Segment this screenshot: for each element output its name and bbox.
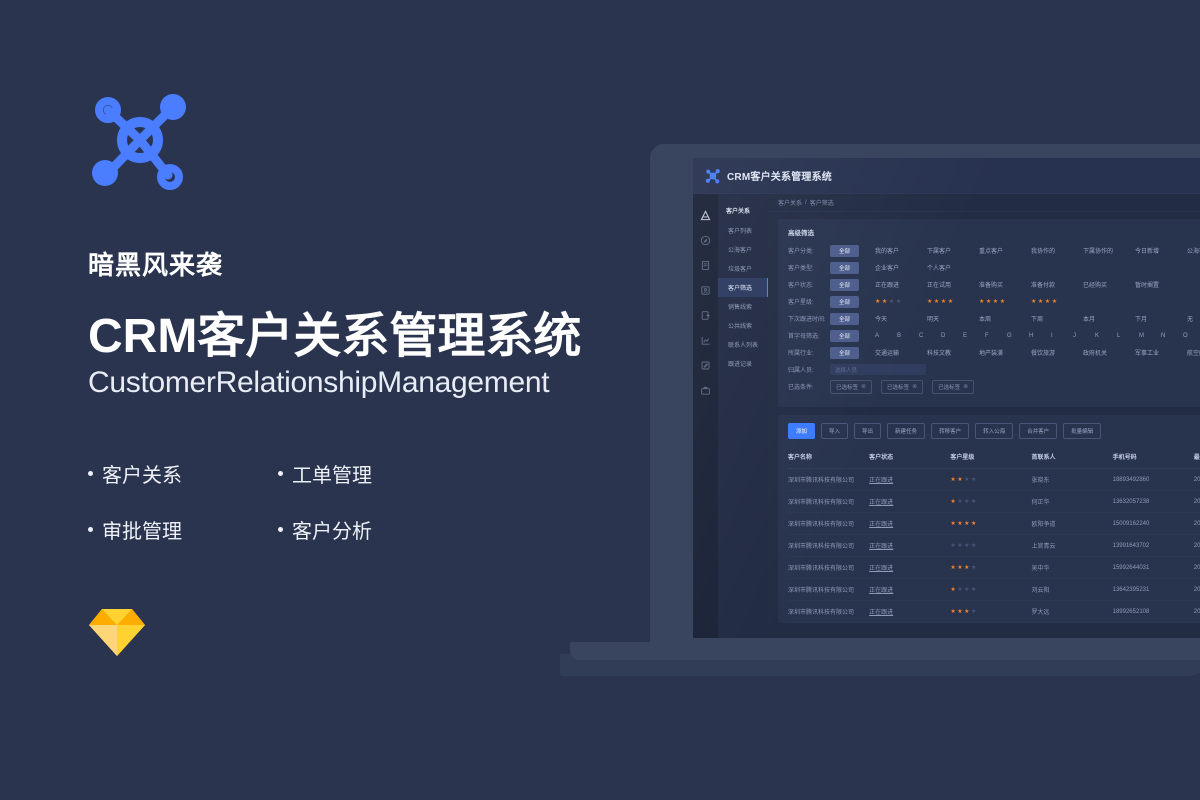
cell-contact-name: 吴中华: [1031, 557, 1112, 579]
filter-option[interactable]: 下属协作的: [1083, 246, 1135, 255]
cell-customer-status: 正在跟进: [869, 513, 950, 535]
filter-option[interactable]: 公海客户: [1187, 246, 1200, 255]
app-header: CRM客户关系管理系统 请输入客户名称: [693, 158, 1200, 194]
filter-option[interactable]: 正在跟进: [875, 280, 927, 289]
table-row[interactable]: 深圳市腾讯科技有限公司正在跟进★★★★上官青云139916437022019-0…: [788, 535, 1200, 557]
sidebar-item-sales-lead[interactable]: 销售线索: [718, 297, 768, 316]
feature-label: 审批管理: [102, 515, 182, 544]
star-icon: ★: [1045, 299, 1050, 305]
feature-list: 客户关系 工单管理 审批管理 客户分析: [88, 445, 468, 557]
filter-option[interactable]: 下属客户: [927, 246, 979, 255]
network-nodes-icon: [88, 85, 193, 195]
filter-options: 我的客户下属客户重点客户我协作的下属协作的今日新增公海客户垃圾客户: [875, 246, 1200, 255]
condition-chip[interactable]: 已选标签 ⊗: [932, 380, 974, 394]
filter-option[interactable]: B: [897, 333, 919, 339]
filter-row: 所属行业:全部交通运输科技文教地产装潢餐饮旅游政府机关军事工业航空航天医疗卫生: [788, 346, 1200, 359]
customer-card-icon[interactable]: [700, 283, 711, 294]
star-rating: ★★★★: [950, 609, 1002, 615]
cell-customer-stars: ★★★★: [950, 513, 1031, 535]
filter-all-chip[interactable]: 全部: [830, 313, 859, 325]
star-icon: ★: [1031, 299, 1036, 305]
cell-customer-name: 深圳市腾讯科技有限公司: [788, 557, 869, 579]
cell-phone: 15009162240: [1113, 513, 1194, 535]
cell-customer-status: 正在跟进: [869, 557, 950, 579]
star-icon: ★: [964, 521, 969, 527]
filter-option[interactable]: F: [985, 333, 1007, 339]
toolbar-button[interactable]: 合并客户: [1019, 423, 1057, 439]
sidebar-item-public-lead[interactable]: 公共线索: [718, 316, 768, 335]
filter-option[interactable]: K: [1095, 333, 1117, 339]
table-column-header: 客户状态: [869, 447, 950, 469]
cell-last-followup: 2019-06-25 12:30: [1194, 535, 1200, 557]
star-icon: ★: [964, 499, 969, 505]
filter-panel-title: 高级筛选: [788, 227, 1200, 237]
star-rating: ★★★★: [950, 543, 1002, 549]
cell-customer-status: 正在跟进: [869, 579, 950, 601]
star-rating-option[interactable]: ★★★★: [979, 299, 1031, 305]
star-icon: ★: [1000, 299, 1005, 305]
bullet-dot: [278, 527, 283, 532]
table-header-row: 客户名称客户状态客户星级首联系人手机号码最近跟进: [788, 447, 1200, 469]
star-icon: ★: [1052, 299, 1057, 305]
star-rating-option[interactable]: ★★★★: [1031, 299, 1083, 305]
filter-option[interactable]: G: [1007, 333, 1029, 339]
filter-option[interactable]: 重点客户: [979, 246, 1031, 255]
star-icon: ★: [950, 565, 955, 571]
filter-option[interactable]: 个人客户: [927, 263, 979, 272]
toolbar-button[interactable]: 导入: [821, 423, 848, 439]
toolbar: 添加导入导出新建任务转移客户转入公海合并客户批量编辑: [788, 423, 1200, 439]
sketch-diamond-icon: [88, 605, 146, 657]
cell-phone: 13632057238: [1113, 491, 1194, 513]
network-nodes-icon: [705, 168, 721, 184]
filter-option[interactable]: 下月: [1135, 314, 1187, 323]
star-icon: ★: [957, 477, 962, 483]
filter-row: 客户状态:全部正在跟进正在试用准备购买准备付款已经购买暂时搁置: [788, 278, 1200, 291]
filter-option[interactable]: 航空航天: [1187, 348, 1200, 357]
star-icon: ★: [971, 609, 976, 615]
filter-all-chip[interactable]: 全部: [830, 296, 859, 308]
filter-row-label: 下次跟进时间:: [788, 314, 830, 323]
cell-customer-stars: ★★★★: [950, 557, 1031, 579]
cell-customer-name: 深圳市腾讯科技有限公司: [788, 513, 869, 535]
sidebar-item-followup-record[interactable]: 跟进记录: [718, 354, 768, 373]
star-icon: ★: [934, 299, 939, 305]
star-rating: ★★★★: [950, 521, 1002, 527]
filter-option[interactable]: 地产装潢: [979, 348, 1031, 357]
filter-panel: 高级筛选 客户分类:全部我的客户下属客户重点客户我协作的下属协作的今日新增公海客…: [778, 219, 1200, 407]
close-circle-icon[interactable]: ⊗: [912, 383, 917, 390]
cell-last-followup: 2019-06-25 12:30: [1194, 601, 1200, 623]
cell-last-followup: 2019-06-25 12:30: [1194, 491, 1200, 513]
condition-chip-text: 已选标签: [836, 383, 858, 391]
star-icon: ★: [957, 499, 962, 505]
filter-option[interactable]: C: [919, 333, 941, 339]
star-icon: ★: [950, 477, 955, 483]
cell-contact-name: 罗大远: [1031, 601, 1112, 623]
toolbar-button[interactable]: 导出: [854, 423, 881, 439]
filter-all-chip[interactable]: 全部: [830, 279, 859, 291]
filter-option[interactable]: H: [1029, 333, 1051, 339]
owner-row: 归属人员: 选择人员: [788, 363, 1200, 376]
app-title: CRM客户关系管理系统: [727, 168, 832, 183]
star-icon: ★: [941, 299, 946, 305]
feature-item: 客户关系: [88, 445, 278, 501]
selected-conditions-row: 已选条件: 已选标签 ⊗ 已选标签 ⊗ 已选标签 ⊗: [788, 380, 1200, 393]
cell-contact-name: 何正华: [1031, 491, 1112, 513]
filter-option[interactable]: D: [941, 333, 963, 339]
filter-option[interactable]: 本周: [979, 314, 1031, 323]
filter-option[interactable]: 军事工业: [1135, 348, 1187, 357]
table-row[interactable]: 深圳市腾讯科技有限公司正在跟进★★★★何正华136320572382019-06…: [788, 491, 1200, 513]
star-icon: ★: [948, 299, 953, 305]
sidebar-item-public-customer[interactable]: 公海客户: [718, 240, 768, 259]
star-rating-option[interactable]: ★★★★: [875, 299, 927, 305]
bullet-dot: [88, 527, 93, 532]
cell-customer-name: 深圳市腾讯科技有限公司: [788, 491, 869, 513]
filter-option[interactable]: 我协作的: [1031, 246, 1083, 255]
filter-rows: 客户分类:全部我的客户下属客户重点客户我协作的下属协作的今日新增公海客户垃圾客户…: [788, 244, 1200, 359]
filter-option[interactable]: O: [1183, 333, 1200, 339]
filter-all-chip[interactable]: 全部: [830, 347, 859, 359]
cell-customer-status: 正在跟进: [869, 491, 950, 513]
cell-last-followup: 2019-06-25 12:30: [1194, 513, 1200, 535]
filter-row: 首字母筛选:全部ABCDEFGHIJKLMNOPQRSTU: [788, 329, 1200, 342]
filter-option[interactable]: I: [1051, 333, 1073, 339]
star-icon: ★: [964, 609, 969, 615]
sidebar-item-customer-filter[interactable]: 客户筛选: [718, 278, 768, 297]
filter-options: 交通运输科技文教地产装潢餐饮旅游政府机关军事工业航空航天医疗卫生: [875, 348, 1200, 357]
briefcase-icon[interactable]: [700, 383, 711, 394]
filter-all-chip[interactable]: 全部: [830, 245, 859, 257]
toolbar-button[interactable]: 转移客户: [931, 423, 969, 439]
app-body: 客户关系 客户列表 公海客户 垃圾客户 客户筛选 销售线索 公共线索 联系人列表…: [693, 194, 1200, 638]
star-icon: ★: [957, 565, 962, 571]
cell-customer-stars: ★★★★: [950, 601, 1031, 623]
feature-item: 审批管理: [88, 501, 278, 557]
selected-conditions-label: 已选条件:: [788, 382, 830, 391]
condition-chip-text: 已选标签: [938, 383, 960, 391]
cell-customer-name: 深圳市腾讯科技有限公司: [788, 601, 869, 623]
filter-options: 企业客户个人客户: [875, 263, 1200, 272]
filter-option[interactable]: 我的客户: [875, 246, 927, 255]
filter-option[interactable]: 科技文教: [927, 348, 979, 357]
laptop-base: [570, 642, 1200, 660]
chart-icon[interactable]: [700, 333, 711, 344]
cell-customer-status: 正在跟进: [869, 469, 950, 491]
filter-all-chip[interactable]: 全部: [830, 262, 859, 274]
close-circle-icon[interactable]: ⊗: [861, 383, 866, 390]
hero-kicker: 暗黑风来袭: [88, 245, 223, 282]
filter-options: 正在跟进正在试用准备购买准备付款已经购买暂时搁置: [875, 280, 1200, 289]
star-icon: ★: [950, 609, 955, 615]
star-icon: ★: [882, 299, 887, 305]
hero-subtitle: CustomerRelationshipManagement: [88, 366, 549, 400]
filter-options: ★★★★★★★★★★★★★★★★: [875, 299, 1200, 305]
table-row[interactable]: 深圳市腾讯科技有限公司正在跟进★★★★张晓东188934928602019-06…: [788, 469, 1200, 491]
star-icon: ★: [979, 299, 984, 305]
star-rating: ★★★★: [950, 499, 1002, 505]
star-icon: ★: [957, 521, 962, 527]
star-icon: ★: [964, 477, 969, 483]
table-column-header: 首联系人: [1031, 447, 1112, 469]
filter-option[interactable]: 准备购买: [979, 280, 1031, 289]
laptop-camera: [947, 152, 993, 156]
table-panel: 添加导入导出新建任务转移客户转入公海合并客户批量编辑 客户名称客户状态客户星级首…: [778, 415, 1200, 623]
filter-row: 客户分类:全部我的客户下属客户重点客户我协作的下属协作的今日新增公海客户垃圾客户: [788, 244, 1200, 257]
filter-option[interactable]: 无: [1187, 314, 1200, 323]
filter-all-chip[interactable]: 全部: [830, 330, 859, 342]
cell-last-followup: 2019-06-25 12:30: [1194, 579, 1200, 601]
table-row[interactable]: 深圳市腾讯科技有限公司正在跟进★★★★吴中华159926440312019-06…: [788, 557, 1200, 579]
cell-customer-name: 深圳市腾讯科技有限公司: [788, 469, 869, 491]
cell-customer-status: 正在跟进: [869, 535, 950, 557]
condition-chip-text: 已选标签: [887, 383, 909, 391]
filter-row: 客户星级:全部★★★★★★★★★★★★★★★★: [788, 295, 1200, 308]
cell-customer-name: 深圳市腾讯科技有限公司: [788, 535, 869, 557]
filter-row: 客户类型:全部企业客户个人客户: [788, 261, 1200, 274]
cell-phone: 13642395231: [1113, 579, 1194, 601]
sidebar-menu: 客户关系 客户列表 公海客户 垃圾客户 客户筛选 销售线索 公共线索 联系人列表…: [718, 194, 768, 638]
star-icon: ★: [964, 565, 969, 571]
customer-table: 客户名称客户状态客户星级首联系人手机号码最近跟进 深圳市腾讯科技有限公司正在跟进…: [788, 447, 1200, 623]
sidebar-group-title: 客户关系: [718, 202, 768, 221]
filter-option[interactable]: 今日新增: [1135, 246, 1187, 255]
cell-phone: 18992652108: [1113, 601, 1194, 623]
filter-option[interactable]: E: [963, 333, 985, 339]
condition-chip[interactable]: 已选标签 ⊗: [881, 380, 923, 394]
filter-row-label: 所属行业:: [788, 348, 830, 357]
filter-option[interactable]: 今天: [875, 314, 927, 323]
star-icon: ★: [875, 299, 880, 305]
filter-row: 下次跟进时间:全部今天明天本周下周本月下月无自定义时间: [788, 312, 1200, 325]
star-icon: ★: [971, 477, 976, 483]
toolbar-button[interactable]: 添加: [788, 423, 815, 439]
cell-phone: 18893492860: [1113, 469, 1194, 491]
cell-last-followup: 2019-06-25 12:30: [1194, 557, 1200, 579]
icon-rail: [693, 194, 718, 638]
feature-item: 客户分析: [278, 501, 468, 557]
filter-option[interactable]: 正在试用: [927, 280, 979, 289]
edit-icon[interactable]: [700, 358, 711, 369]
feature-label: 客户分析: [292, 515, 372, 544]
feature-label: 工单管理: [292, 459, 372, 488]
owner-placeholder: 选择人员: [835, 366, 857, 374]
laptop-mockup: CRM客户关系管理系统 请输入客户名称: [560, 118, 1200, 698]
cell-customer-stars: ★★★★: [950, 491, 1031, 513]
breadcrumb-separator: /: [805, 200, 807, 206]
star-icon: ★: [950, 543, 955, 549]
sidebar-item-contact-list[interactable]: 联系人列表: [718, 335, 768, 354]
star-icon: ★: [957, 587, 962, 593]
filter-row-label: 客户星级:: [788, 297, 830, 306]
filter-options: 今天明天本周下周本月下月无自定义时间: [875, 314, 1200, 323]
star-icon: ★: [971, 565, 976, 571]
filter-option[interactable]: 明天: [927, 314, 979, 323]
feature-item: 工单管理: [278, 445, 468, 501]
app-screen: CRM客户关系管理系统 请输入客户名称: [693, 158, 1200, 638]
table-column-header: 手机号码: [1113, 447, 1194, 469]
table-row[interactable]: 深圳市腾讯科技有限公司正在跟进★★★★欧阳争道150091622402019-0…: [788, 513, 1200, 535]
star-icon: ★: [950, 587, 955, 593]
star-icon: ★: [896, 299, 901, 305]
toolbar-button[interactable]: 转入公海: [975, 423, 1013, 439]
table-row[interactable]: 深圳市腾讯科技有限公司正在跟进★★★★刘云阳136423952312019-06…: [788, 579, 1200, 601]
cell-phone: 15992644031: [1113, 557, 1194, 579]
table-column-header: 客户星级: [950, 447, 1031, 469]
filter-option[interactable]: 交通运输: [875, 348, 927, 357]
close-circle-icon[interactable]: ⊗: [963, 383, 968, 390]
sidebar-item-customer-list[interactable]: 客户列表: [718, 221, 768, 240]
filter-option[interactable]: 已经购买: [1083, 280, 1135, 289]
filter-option[interactable]: A: [875, 333, 897, 339]
filter-row-label: 客户状态:: [788, 280, 830, 289]
cell-contact-name: 欧阳争道: [1031, 513, 1112, 535]
toolbar-button[interactable]: 批量编辑: [1063, 423, 1101, 439]
table-column-header: 最近跟进: [1194, 447, 1200, 469]
bullet-dot: [88, 471, 93, 476]
star-rating: ★★★★: [950, 477, 1002, 483]
star-icon: ★: [971, 499, 976, 505]
page-title: CRM客户关系管理系统: [88, 296, 581, 366]
home-icon[interactable]: [700, 208, 711, 219]
sidebar-item-junk-customer[interactable]: 垃圾客户: [718, 259, 768, 278]
breadcrumb: 客户关系 / 客户筛选: [768, 194, 1200, 212]
cell-customer-stars: ★★★★: [950, 579, 1031, 601]
cell-customer-stars: ★★★★: [950, 469, 1031, 491]
owner-select-input[interactable]: 选择人员: [830, 364, 926, 375]
filter-option[interactable]: 下周: [1031, 314, 1083, 323]
cell-customer-status: 正在跟进: [869, 601, 950, 623]
star-icon: ★: [889, 299, 894, 305]
star-icon: ★: [950, 521, 955, 527]
star-rating: ★★★★: [950, 565, 1002, 571]
filter-row-label: 首字母筛选:: [788, 331, 830, 340]
cell-contact-name: 上官青云: [1031, 535, 1112, 557]
breadcrumb-root[interactable]: 客户关系: [778, 198, 802, 207]
cell-customer-stars: ★★★★: [950, 535, 1031, 557]
feature-label: 客户关系: [102, 459, 182, 488]
star-icon: ★: [927, 299, 932, 305]
document-icon[interactable]: [700, 258, 711, 269]
star-rating-option[interactable]: ★★★★: [927, 299, 979, 305]
star-icon: ★: [950, 499, 955, 505]
table-column-header: 客户名称: [788, 447, 869, 469]
bullet-dot: [278, 471, 283, 476]
cell-contact-name: 张晓东: [1031, 469, 1112, 491]
cell-customer-name: 深圳市腾讯科技有限公司: [788, 579, 869, 601]
cell-phone: 13991643702: [1113, 535, 1194, 557]
star-icon: ★: [957, 543, 962, 549]
star-icon: ★: [986, 299, 991, 305]
cell-contact-name: 刘云阳: [1031, 579, 1112, 601]
filter-option[interactable]: 企业客户: [875, 263, 927, 272]
cell-last-followup: 2019-06-25 12:30: [1194, 469, 1200, 491]
star-icon: ★: [964, 587, 969, 593]
compass-icon[interactable]: [700, 233, 711, 244]
star-icon: ★: [971, 543, 976, 549]
filter-option[interactable]: 本月: [1083, 314, 1135, 323]
star-rating: ★★★★: [950, 587, 1002, 593]
star-icon: ★: [971, 521, 976, 527]
content-area: 客户关系 / 客户筛选 高级筛选 客户分类:全部我的客户下属客户重点客户我协作的…: [768, 194, 1200, 638]
filter-option[interactable]: N: [1161, 333, 1183, 339]
star-icon: ★: [993, 299, 998, 305]
star-icon: ★: [964, 543, 969, 549]
filter-option[interactable]: 政府机关: [1083, 348, 1135, 357]
breadcrumb-current: 客户筛选: [810, 198, 834, 207]
export-icon[interactable]: [700, 308, 711, 319]
star-icon: ★: [957, 609, 962, 615]
filter-option[interactable]: 暂时搁置: [1135, 280, 1187, 289]
table-row[interactable]: 深圳市腾讯科技有限公司正在跟进★★★★罗大远189926521082019-06…: [788, 601, 1200, 623]
filter-option[interactable]: M: [1139, 333, 1161, 339]
owner-label: 归属人员:: [788, 365, 830, 374]
filter-option[interactable]: L: [1117, 333, 1139, 339]
filter-option[interactable]: 餐饮旅游: [1031, 348, 1083, 357]
table-body: 深圳市腾讯科技有限公司正在跟进★★★★张晓东188934928602019-06…: [788, 469, 1200, 623]
star-icon: ★: [971, 587, 976, 593]
filter-option[interactable]: J: [1073, 333, 1095, 339]
toolbar-button[interactable]: 新建任务: [887, 423, 925, 439]
star-icon: ★: [1038, 299, 1043, 305]
condition-chip[interactable]: 已选标签 ⊗: [830, 380, 872, 394]
filter-options: ABCDEFGHIJKLMNOPQRSTU: [875, 333, 1200, 339]
filter-option[interactable]: 准备付款: [1031, 280, 1083, 289]
filter-row-label: 客户类型:: [788, 263, 830, 272]
filter-row-label: 客户分类:: [788, 246, 830, 255]
